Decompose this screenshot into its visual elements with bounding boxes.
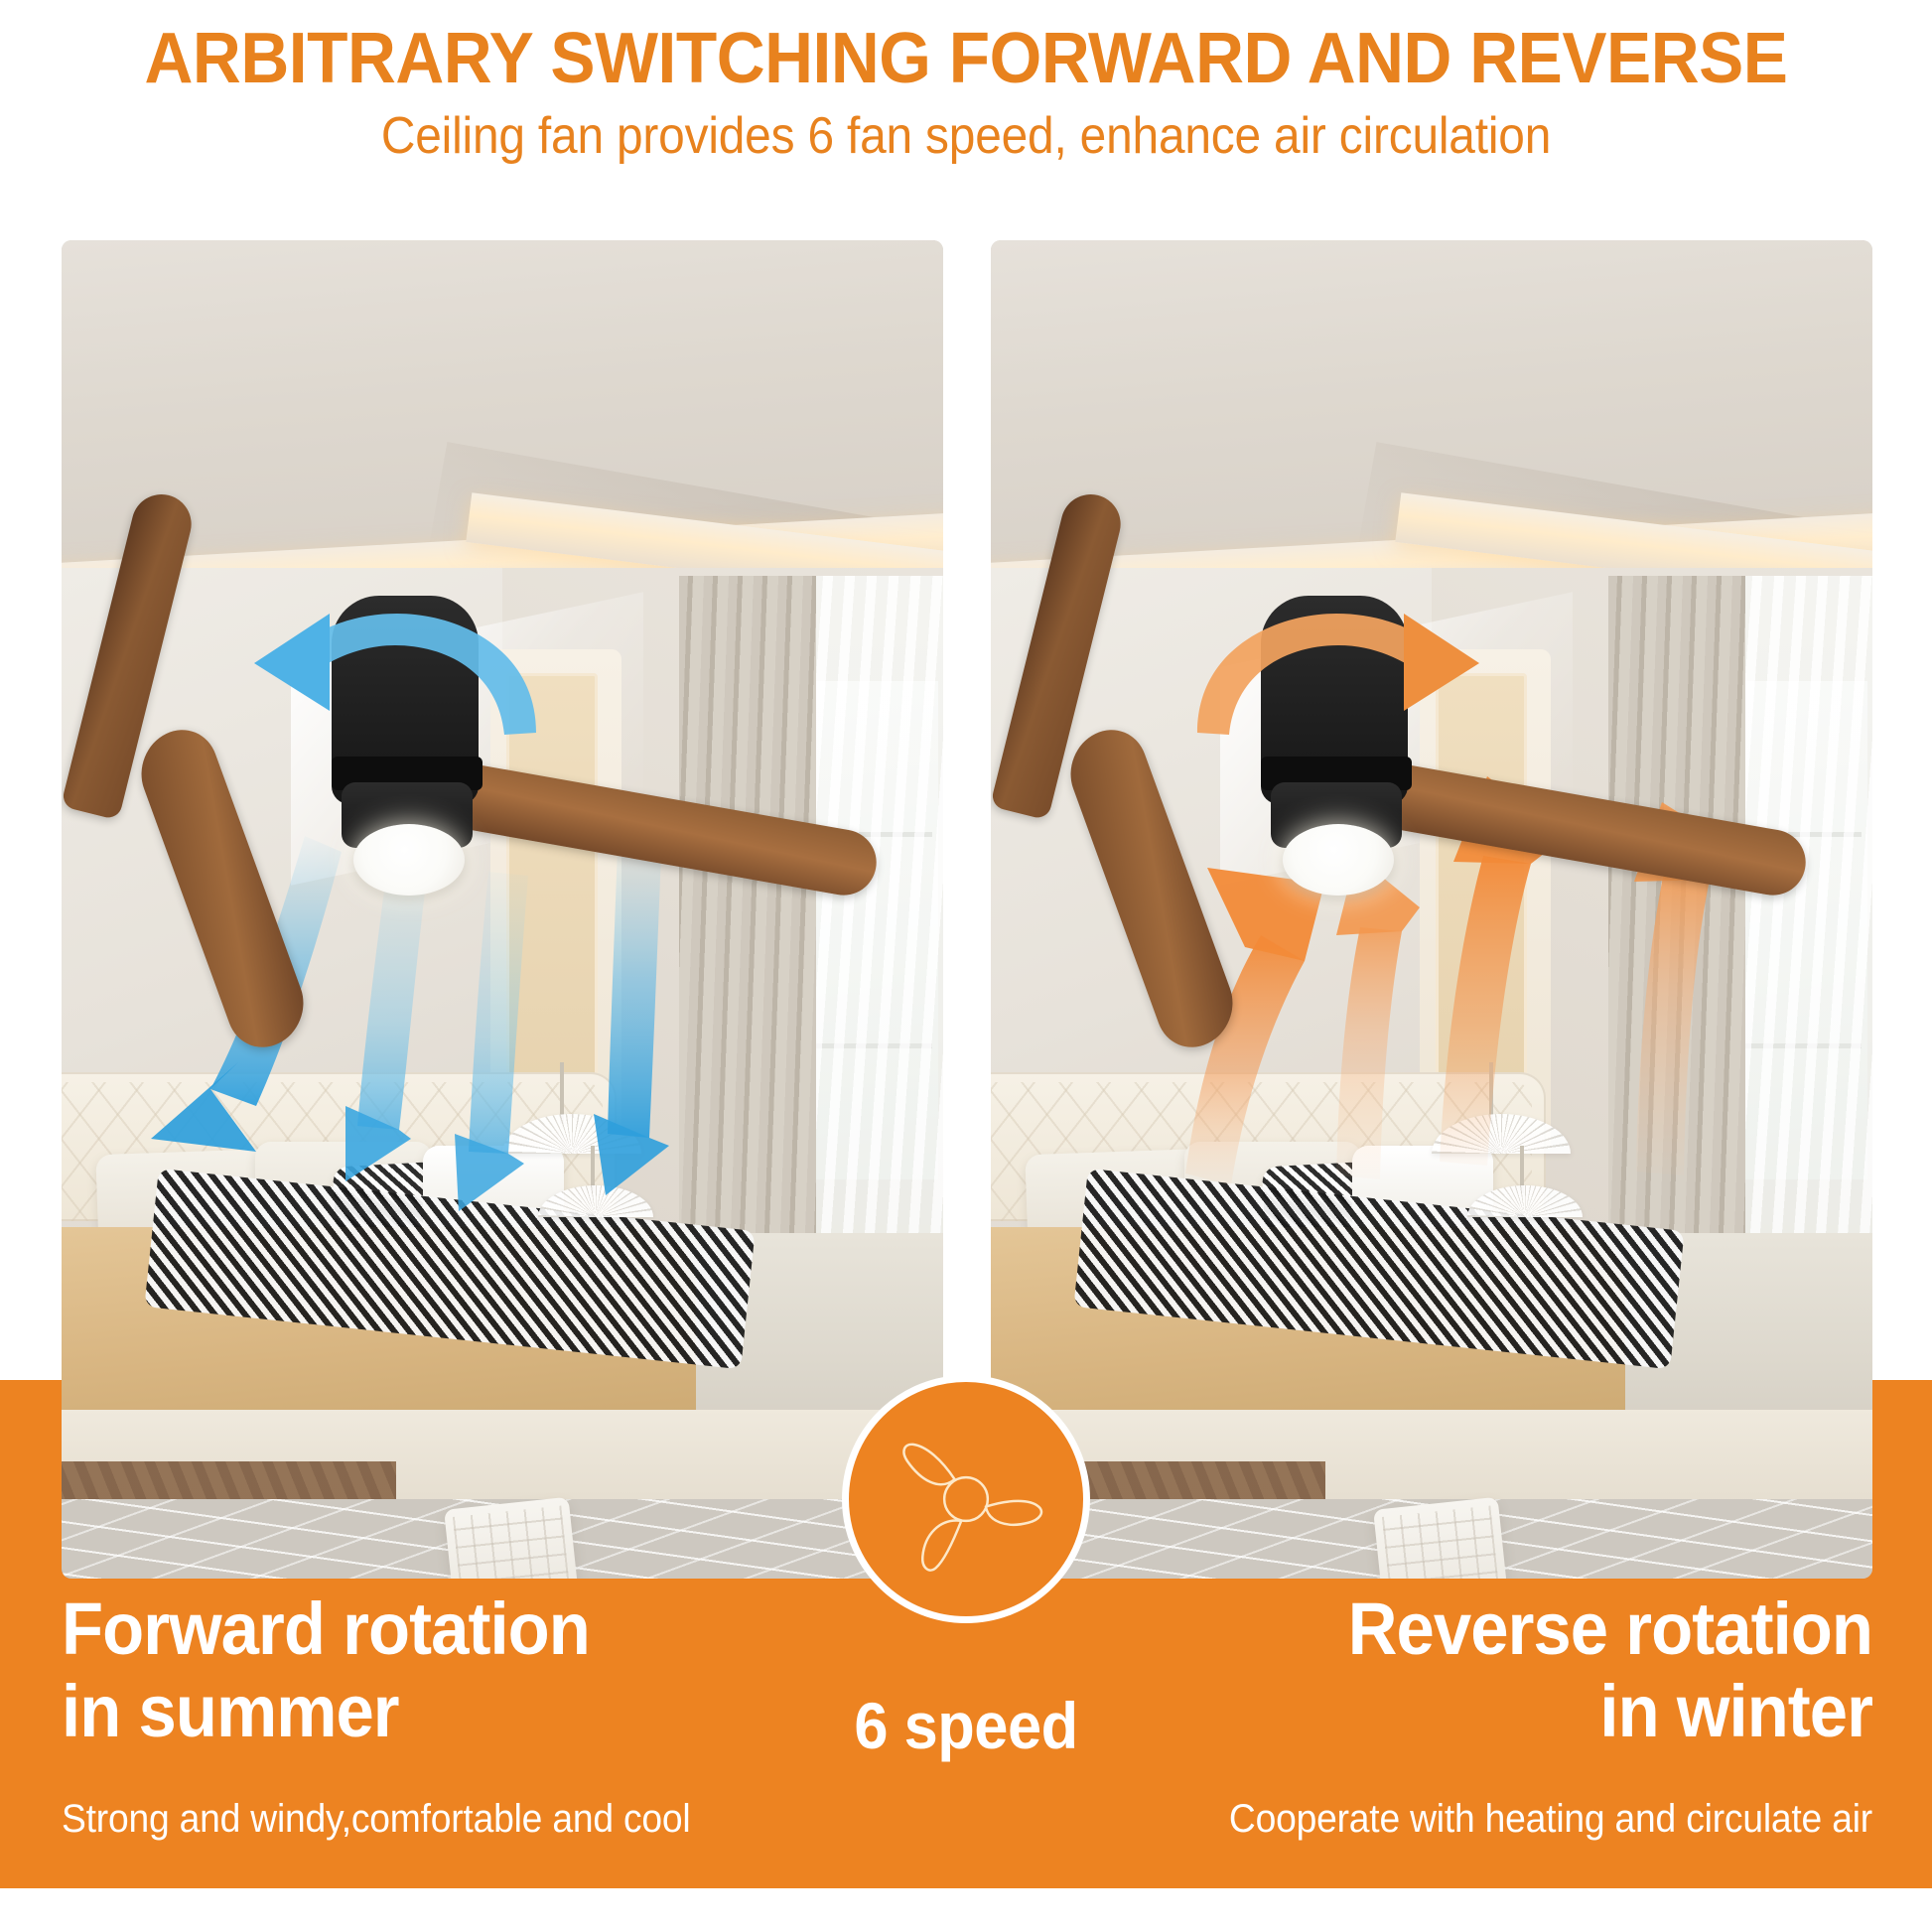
caption-reverse-subtitle: Cooperate with heating and circulate air <box>1171 1797 1872 1842</box>
panel-forward-rotation <box>62 240 943 1579</box>
rotation-arrow-reverse <box>1168 584 1495 772</box>
window-area <box>1608 576 1872 1330</box>
caption-forward-subtitle: Strong and windy,comfortable and cool <box>62 1797 708 1842</box>
drape-curtain <box>1608 576 1746 1330</box>
header: ARBITRARY SWITCHING FORWARD AND REVERSE … <box>0 0 1932 240</box>
floor-cushion <box>444 1497 581 1579</box>
speed-badge-label: 6 speed <box>68 1688 1864 1763</box>
page-subtitle: Ceiling fan provides 6 fan speed, enhanc… <box>77 107 1855 167</box>
fan-led-light <box>1283 824 1394 896</box>
panel-reverse-rotation <box>991 240 1872 1579</box>
rotation-arrow-forward <box>238 584 566 772</box>
speed-badge <box>842 1375 1090 1623</box>
caption-reverse-title-line1: Reverse rotation <box>1171 1588 1872 1671</box>
caption-forward-title-line1: Forward rotation <box>62 1588 708 1671</box>
drape-curtain <box>679 576 817 1330</box>
fan-led-light <box>353 824 465 896</box>
page-title: ARBITRARY SWITCHING FORWARD AND REVERSE <box>58 22 1873 97</box>
fan-propeller-icon <box>872 1405 1060 1593</box>
floor-cushion <box>1373 1497 1510 1579</box>
window-area <box>679 576 943 1330</box>
